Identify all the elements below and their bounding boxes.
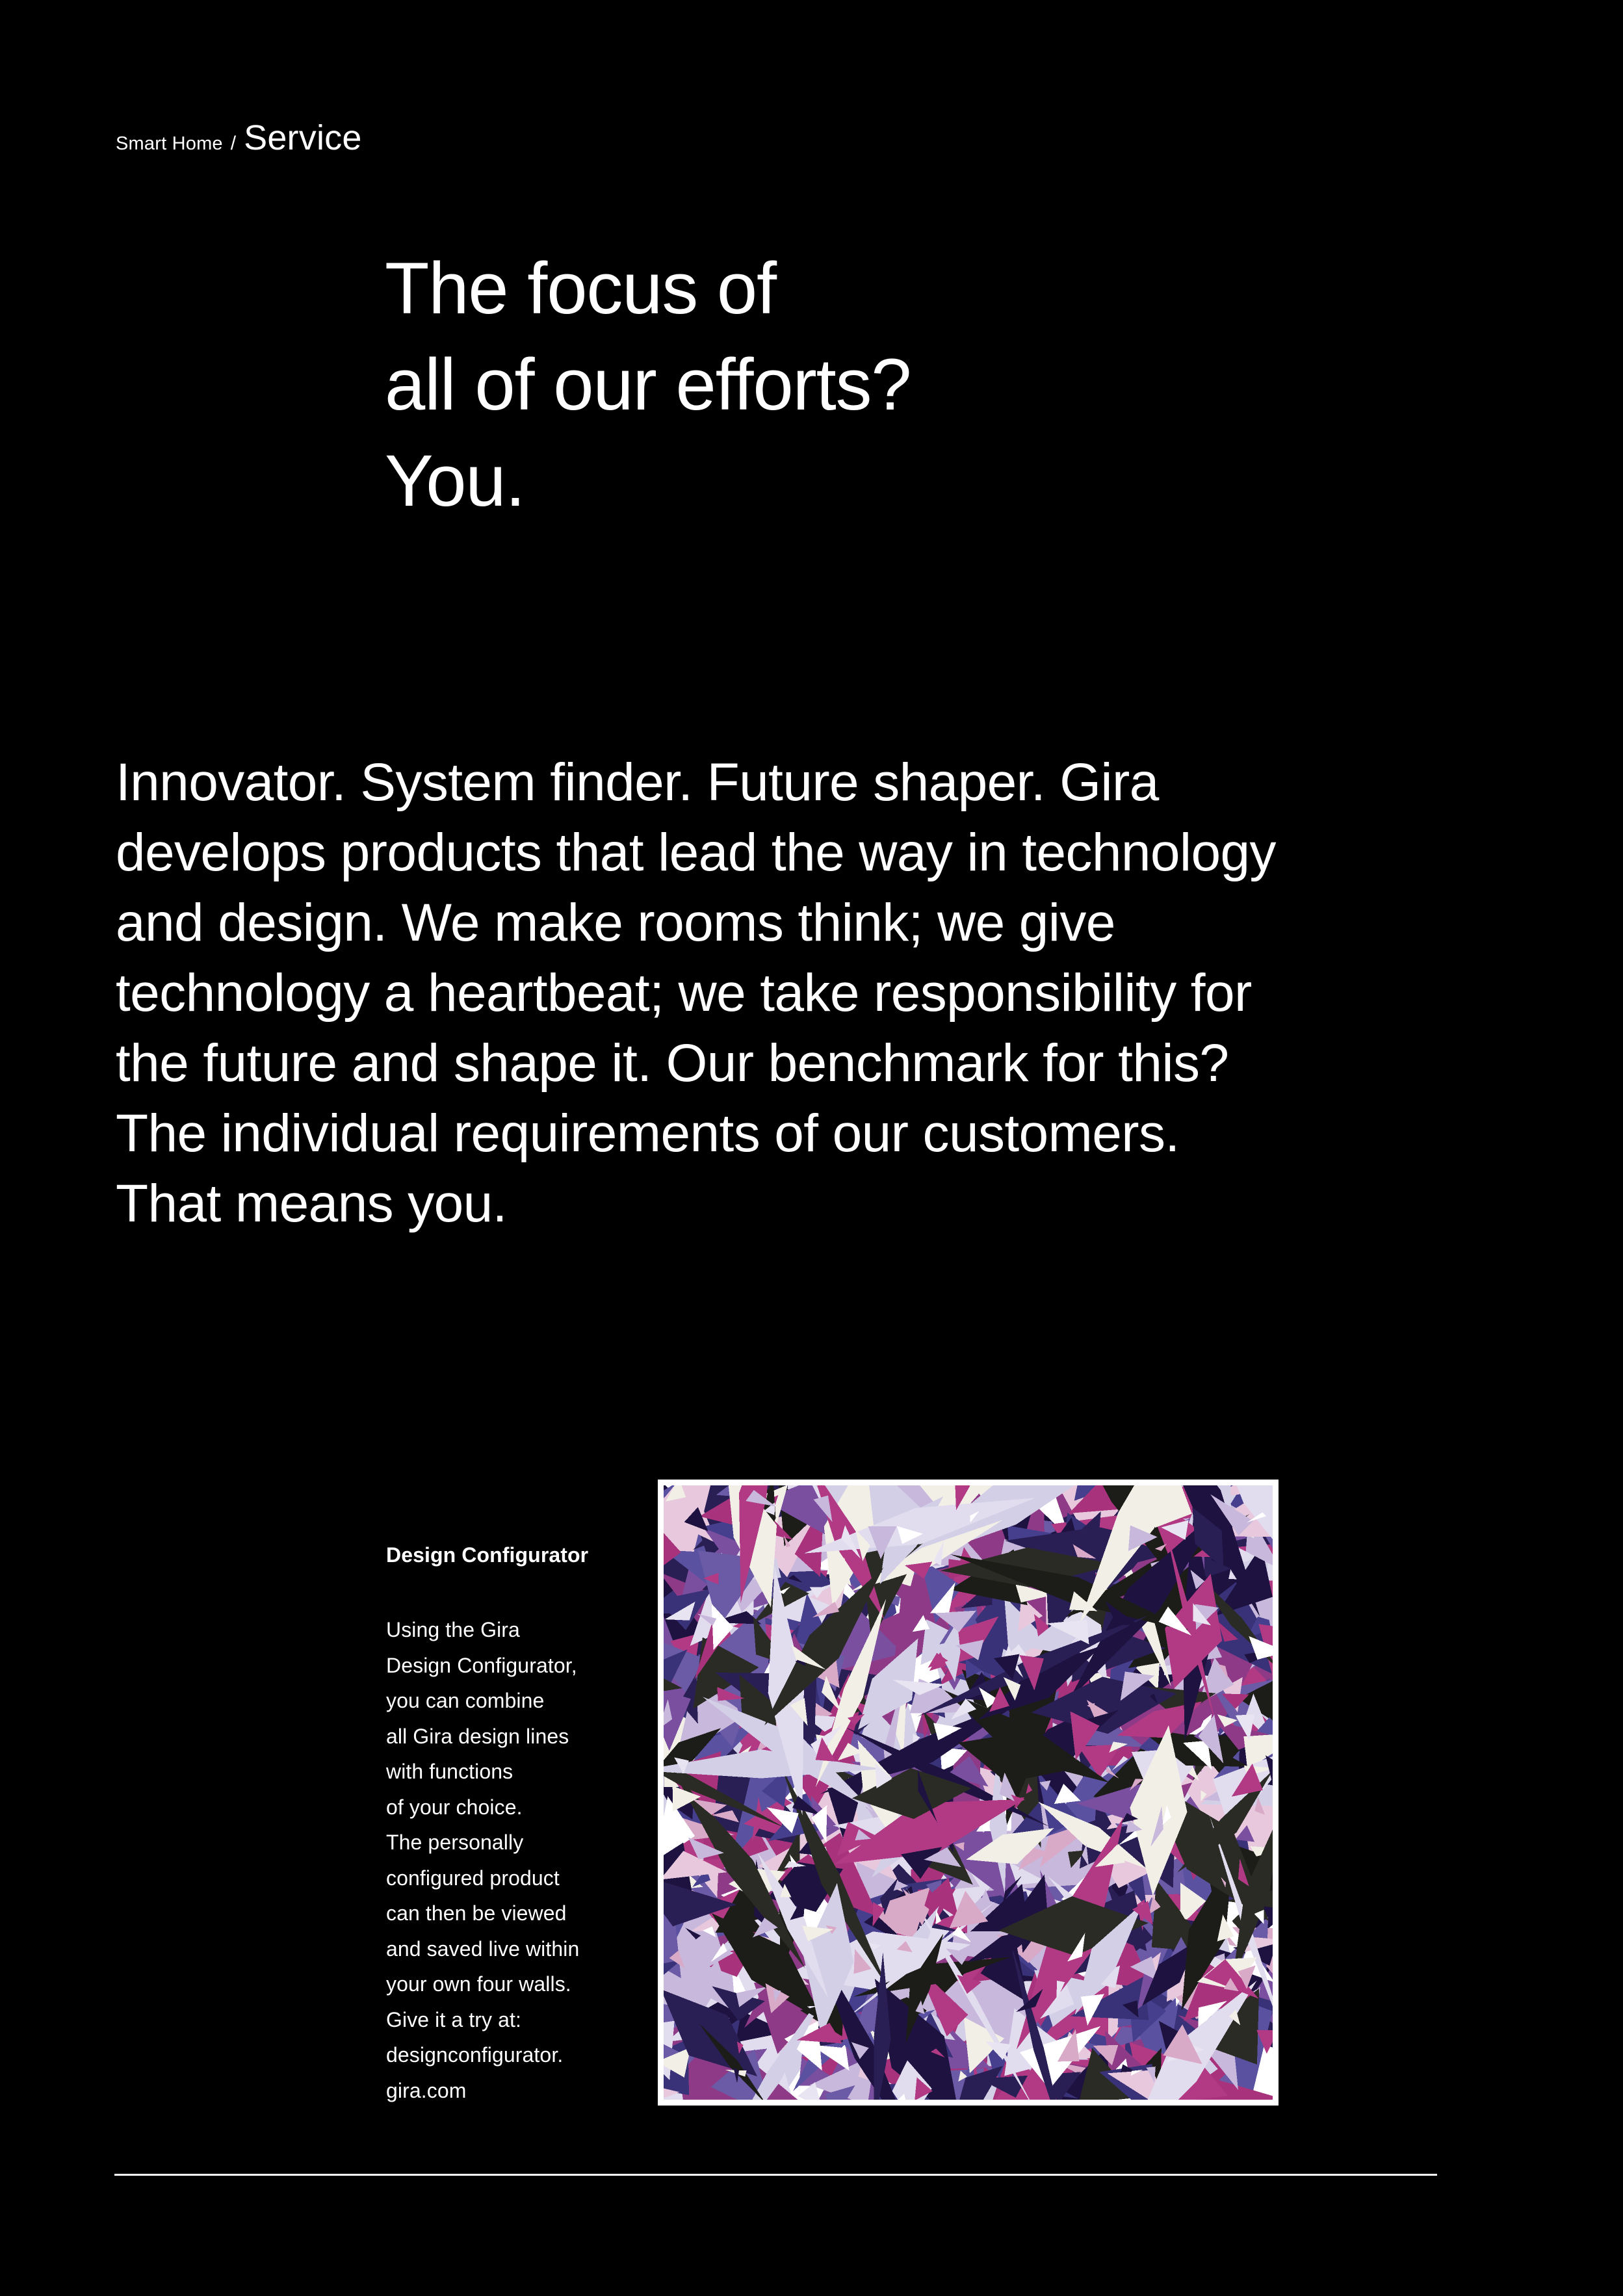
breadcrumb-separator-icon: / — [231, 134, 236, 153]
design-configurator-artwork[interactable] — [658, 1480, 1279, 2106]
breadcrumb-item-smart-home[interactable]: Smart Home — [116, 135, 223, 153]
design-configurator-caption: Design Configurator Using the Gira Desig… — [386, 1542, 627, 2108]
caption-body: Using the Gira Design Configurator, you … — [386, 1612, 627, 2108]
breadcrumb: Smart Home / Service — [116, 120, 362, 155]
abstract-shard-graphic — [664, 1485, 1273, 2100]
page-headline: The focus of all of our efforts? You. — [385, 241, 911, 529]
caption-title: Design Configurator — [386, 1542, 627, 1568]
footer-divider — [114, 2174, 1437, 2176]
breadcrumb-item-service: Service — [244, 120, 361, 155]
lead-paragraph: Innovator. System finder. Future shaper.… — [116, 748, 1416, 1239]
